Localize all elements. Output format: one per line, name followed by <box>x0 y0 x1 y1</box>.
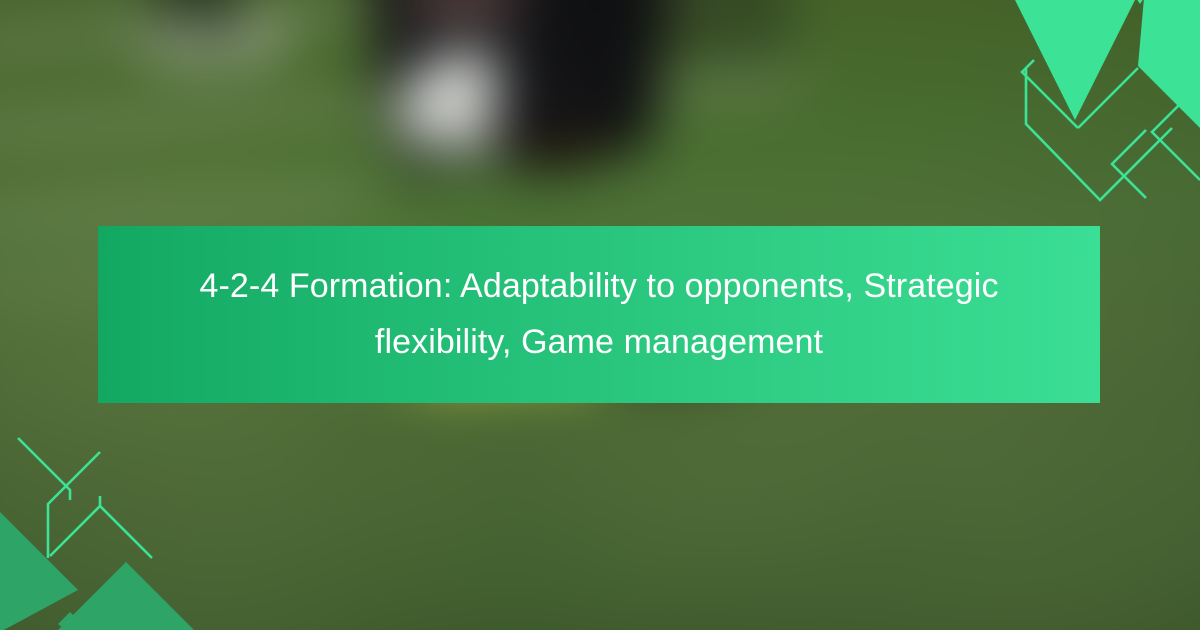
social-card: 4-2-4 Formation: Adaptability to opponen… <box>0 0 1200 630</box>
headline-banner: 4-2-4 Formation: Adaptability to opponen… <box>98 226 1100 403</box>
headline-text: 4-2-4 Formation: Adaptability to opponen… <box>199 259 999 369</box>
